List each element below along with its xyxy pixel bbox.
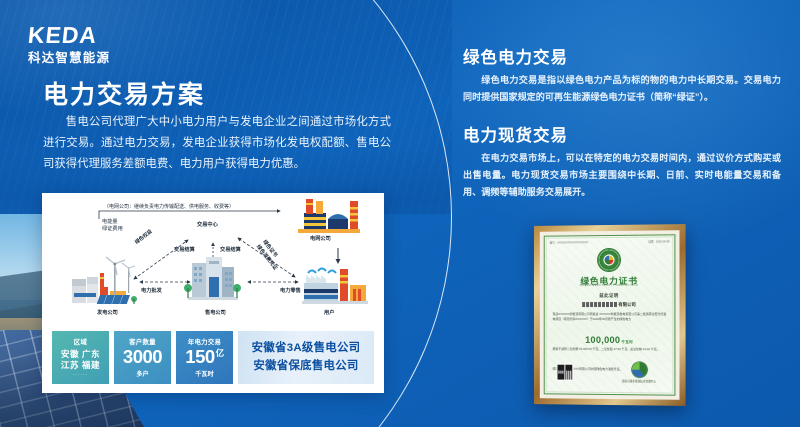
redacted-company-name <box>582 302 618 307</box>
qualification-line2: 安徽省保底售电公司 <box>253 358 358 375</box>
diagram-settlement-left: 交易结算 <box>174 247 195 254</box>
section-paragraph-spot-trading: 在电力交易市场上，可以在特定的电力交易时间内，通过议价方式购买或出售电量。电力现… <box>463 150 781 200</box>
power-plant-icon <box>70 255 142 307</box>
issuer-name: 国家可再生能源信息管理中心 <box>613 379 665 383</box>
diagram-node-generator: 发电公司 <box>97 310 118 317</box>
grid-company-icon <box>294 199 366 237</box>
stat-volume-unit: 亿 <box>216 348 224 358</box>
stat-customers-caption: 客户数量 <box>129 337 156 346</box>
stats-strip: 区域 安徽 广东 江苏 福建 ······ 客户数量 3000 多户 年电力交易… <box>52 331 374 384</box>
diagram-settlement-right: 交易结算 <box>220 247 241 254</box>
certificate-title-en: GREEN ELECTRICITY CERTIFICATE <box>545 284 675 288</box>
green-electricity-certificate: 编号：XXXXXXXXXXXXXXXXXX 日期：2023-05-08 绿色电力… <box>544 234 676 395</box>
certificate-topbar: 编号：XXXXXXXXXXXXXXXXXX 日期：2023-05-08 <box>550 239 670 244</box>
user-factory-icon <box>300 265 370 307</box>
certificate-date: 日期：2023-05-08 <box>648 239 669 243</box>
stat-region-caption: 区域 <box>74 337 87 346</box>
page-title: 电力交易方案 <box>43 75 205 111</box>
certificate-frame: 编号：XXXXXXXXXXXXXXXXXX 日期：2023-05-08 绿色电力… <box>534 224 686 406</box>
certificate-serial: 编号：XXXXXXXXXXXXXXXXXX <box>550 240 588 244</box>
qualification-panel: KEDA 安徽省3A级售电公司 安徽省保底售电公司 <box>238 331 374 384</box>
qualification-line1: 安徽省3A级售电公司 <box>252 340 361 357</box>
stat-card-region: 区域 安徽 广东 江苏 福建 ······ <box>52 331 109 384</box>
stat-volume-sub: 千瓦时 <box>195 369 214 378</box>
logo-wordmark: KEDA <box>27 24 112 47</box>
section-heading-green-power: 绿色电力交易 <box>463 44 568 68</box>
stat-region-line1: 安徽 广东 <box>61 349 100 360</box>
certificate-company-suffix: 有限公司 <box>618 302 636 307</box>
stat-customers-value: 3000 <box>123 348 162 367</box>
stat-region-line2: 江苏 福建 <box>61 360 100 371</box>
stat-card-customers: 客户数量 3000 多户 <box>114 331 171 384</box>
stat-volume-caption: 年电力交易 <box>188 337 221 346</box>
page-intro-paragraph: 售电公司代理广大中小电力用户与发电企业之间通过市场化方式进行交易。通过电力交易，… <box>43 112 391 175</box>
keda-watermark: KEDA <box>238 331 241 384</box>
diagram-node-grid: 电网公司 <box>310 236 331 243</box>
stat-volume-value: 150 <box>185 346 214 367</box>
certificate-amount-value: 100,000 <box>585 335 620 345</box>
certificate-amount: 100,000千瓦时 <box>545 335 675 345</box>
certificate-qr-code <box>557 364 574 381</box>
content-card: （电网公司：继续负责电力传输配送、供电服务、收费等） 电能量 绿证费用 交易中心… <box>42 193 384 393</box>
market-flow-diagram: （电网公司：继续负责电力传输配送、供电服务、收费等） 电能量 绿证费用 交易中心… <box>42 193 384 325</box>
diagram-center-label: 交易中心 <box>197 222 218 229</box>
stat-region-dots: ······ <box>73 372 89 378</box>
certificate-company: 有限公司 <box>545 302 675 308</box>
certificate-emissions-text: 相当于减排二氧化碳 49,000.00 千克，二氧化硫 47.00 千克，氮氧化… <box>553 347 667 353</box>
diagram-wholesale-label: 电力批发 <box>141 288 162 295</box>
logo-subtitle: 科达智慧能源 <box>28 52 110 65</box>
issuer-badge-icon <box>632 362 647 377</box>
certificate-certify-label: 兹此证明 <box>545 293 675 299</box>
section-paragraph-green-power: 绿色电力交易是指以绿色电力产品为标的物的电力中长期交易。交易电力同时提供国家规定… <box>463 72 781 106</box>
brand-logo: KEDA 科达智慧能源 <box>28 24 110 65</box>
diagram-node-retailer: 售电公司 <box>205 310 226 317</box>
retailer-building-icon <box>184 255 242 305</box>
certificate-seal-icon <box>598 249 620 271</box>
diagram-left-flow-label: 电能量 绿证费用 <box>102 219 123 233</box>
stat-volume-value-wrap: 150亿 <box>185 348 223 367</box>
diagram-retail-label: 电力零售 <box>280 288 301 295</box>
slide-root: KEDA 科达智慧能源 电力交易方案 售电公司代理广大中小电力用户与发电企业之间… <box>0 0 800 427</box>
stat-customers-sub: 多户 <box>136 369 148 378</box>
certificate-issuer: 国家可再生能源信息管理中心 <box>613 362 665 383</box>
certificate-amount-unit: 千瓦时 <box>621 340 633 344</box>
stat-card-annual-volume: 年电力交易 150亿 千瓦时 <box>176 331 233 384</box>
section-heading-spot-trading: 电力现货交易 <box>463 122 568 146</box>
certificate-mat: 编号：XXXXXXXXXXXXXXXXXX 日期：2023-05-08 绿色电力… <box>540 230 680 400</box>
certificate-body-text: 现就XXXXXX新能源有限公司所投资 XXXXXX新能源发电有限公司第二批通算太… <box>553 312 667 322</box>
diagram-top-note: （电网公司：继续负责电力传输配送、供电服务、收费等） <box>104 204 234 211</box>
diagram-node-user: 用户 <box>324 310 334 317</box>
